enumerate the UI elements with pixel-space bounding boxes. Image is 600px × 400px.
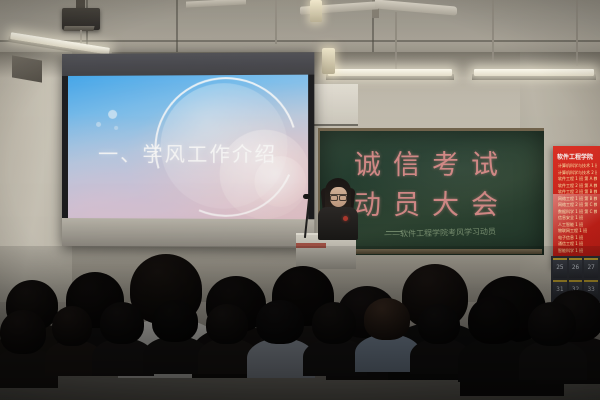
fluorescent-light: [328, 69, 452, 76]
audience-shoulders: [519, 340, 587, 380]
audience-head: [468, 296, 520, 344]
poster-row: 软件工程 1 班 第 A 教学楼: [558, 176, 597, 181]
pendant-light-icon: [322, 48, 335, 74]
fluorescent-light: [474, 69, 594, 76]
audience-head: [52, 306, 92, 346]
poster-row: 软件工程 2 班 第 A 教学楼: [558, 183, 597, 188]
audience-head: [0, 310, 46, 354]
slide-title: 一、学风工作介绍: [68, 138, 308, 168]
presentation-slide: 一、学风工作介绍: [68, 75, 308, 222]
audience-head: [206, 304, 248, 344]
projection-screen: 一、学风工作介绍: [62, 52, 314, 248]
lecture-hall-photo: 一、学风工作介绍 诚信考试 动员大会 ——软件工程学院考风学习动员 软件工程学院…: [0, 0, 600, 400]
presenter-badge: [343, 216, 348, 221]
audience-crowd: [0, 246, 600, 400]
slide-bubble: [114, 126, 118, 130]
audience-head: [364, 298, 410, 340]
glasses-icon: [330, 194, 347, 200]
audience-head: [256, 300, 304, 344]
presenter: [316, 178, 360, 240]
hanging-rod: [576, 0, 578, 66]
audience-head: [152, 300, 198, 342]
screen-bottom-bar: [62, 218, 314, 248]
audience-head: [100, 302, 144, 344]
audience-head: [528, 302, 576, 346]
microphone-icon: [303, 194, 310, 199]
poster-row: 计算机科学与技术 2 班: [558, 170, 597, 175]
ceiling-edge: [0, 40, 600, 42]
audience-head: [312, 302, 356, 344]
hanging-rod: [275, 0, 277, 44]
slide-bubble: [96, 122, 101, 127]
poster-title: 软件工程学院: [557, 152, 598, 161]
audience-head: [418, 304, 460, 344]
projector-lens-icon: [63, 26, 94, 31]
hanging-rod: [395, 12, 397, 72]
hanging-rod: [492, 0, 494, 62]
blackboard-heading-line1: 诚信考试: [320, 143, 544, 182]
poster-row: 计算机科学与技术 1 班: [558, 163, 597, 168]
presenter-body: [318, 207, 358, 240]
slide-bubble: [108, 110, 117, 119]
screen-top-bar: [62, 52, 314, 76]
ceiling-seam: [176, 0, 178, 58]
pendant-light-icon: [310, 0, 322, 22]
